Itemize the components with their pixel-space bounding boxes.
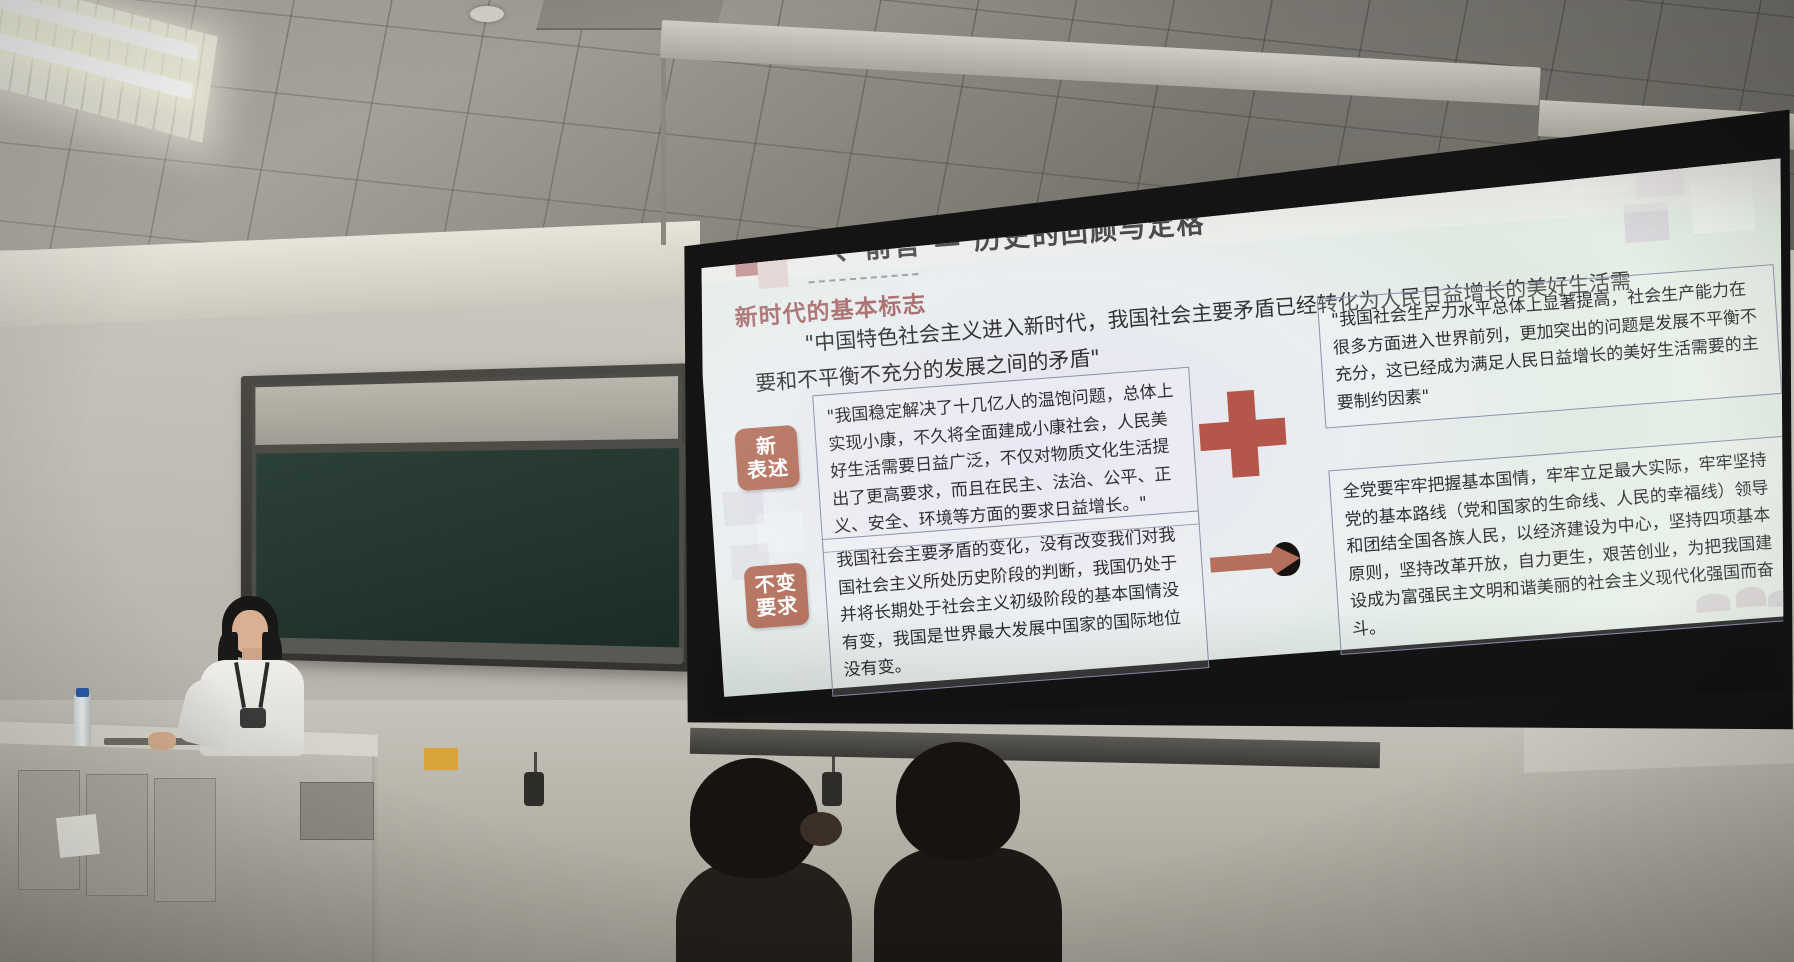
lectern-panel [154, 778, 216, 902]
bottle-cap [76, 688, 89, 697]
audience-head [896, 742, 1020, 860]
blackboard-upper-panel [252, 372, 683, 449]
wall-speaker [822, 772, 842, 806]
content-box-bottom-right: 全党要牢牢把握基本国情，牢牢立足最大实际，牢牢坚持党的基本路线（党和国家的生命线… [1328, 436, 1794, 656]
audience-head [690, 758, 818, 878]
plus-icon [1197, 388, 1289, 480]
speaker-mount [534, 752, 537, 774]
microphone-transmitter [240, 708, 266, 728]
audience-shoulders [874, 848, 1062, 962]
right-arrow-icon [1209, 541, 1303, 582]
title-dashed-rule-bottom [809, 273, 919, 283]
tag-unchanged-line2: 要求 [746, 593, 809, 621]
presenter [192, 596, 322, 756]
projection-screen: 一、前言 — 历史的回顾与定格 新时代的基本标志 "中国特色社会主义进入新时代，… [672, 60, 1794, 760]
lectern-equipment-box [300, 782, 374, 840]
presentation-slide: 一、前言 — 历史的回顾与定格 新时代的基本标志 "中国特色社会主义进入新时代，… [692, 135, 1794, 697]
water-bottle [74, 694, 91, 746]
tag-new-statement: 新 表述 [734, 425, 800, 492]
paper-sheet [56, 814, 100, 858]
screen-pull-rod [661, 40, 666, 245]
tag-new-statement-line2: 表述 [736, 456, 799, 484]
audience-ear [800, 812, 842, 846]
smoke-detector-icon [470, 6, 504, 22]
classroom-photo-scene: 一、前言 — 历史的回顾与定格 新时代的基本标志 "中国特色社会主义进入新时代，… [0, 0, 1794, 962]
wall-speaker [524, 772, 544, 806]
content-box-bottom-left: 我国社会主要矛盾的变化，没有改变我们对我国社会主义所处历史阶段的判断，我国仍处于… [822, 510, 1209, 696]
wall-sign [424, 748, 458, 770]
presenter-hand [148, 732, 176, 750]
tag-unchanged-requirement: 不变 要求 [744, 562, 810, 629]
